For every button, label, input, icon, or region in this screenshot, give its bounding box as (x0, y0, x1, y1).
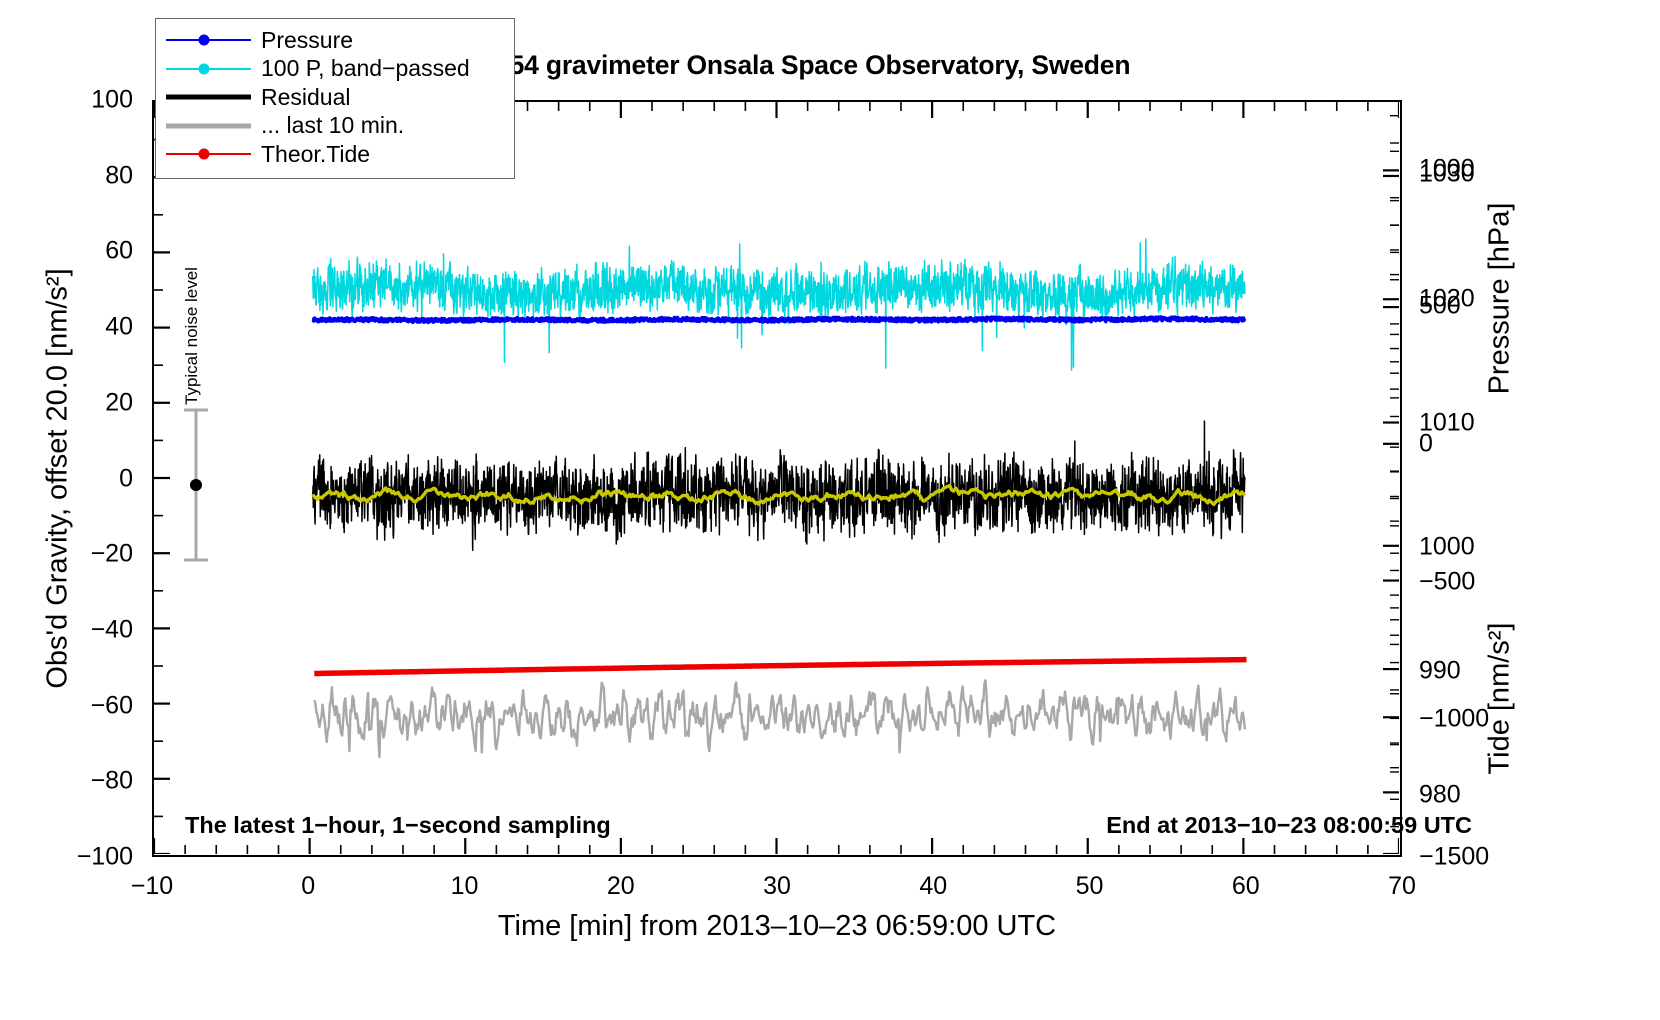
legend-swatch (166, 59, 251, 79)
legend-item-100-p-band-passed[interactable]: 100 P, band−passed (166, 55, 504, 84)
tide-tick-label: 500 (1419, 292, 1461, 321)
tide-tick-label: 1000 (1419, 154, 1475, 183)
trace-band-passed-pressure (313, 239, 1245, 370)
y-tick-label: −20 (91, 540, 133, 569)
chart-legend[interactable]: Pressure100 P, band−passedResidual... la… (155, 18, 515, 179)
y-tick-label: 0 (119, 464, 133, 493)
x-tick-label: 70 (1357, 872, 1447, 901)
y-axis-pressure-title: Pressure [hPa] (1484, 89, 1517, 509)
legend-swatch (166, 116, 251, 136)
x-axis-title: Time [min] from 2013–10–23 06:59:00 UTC (152, 910, 1402, 943)
y-tick-label: −60 (91, 691, 133, 720)
y-tick-label: −100 (77, 843, 133, 872)
pressure-tick-label: 990 (1419, 656, 1461, 685)
trace-last-10-min (314, 680, 1245, 757)
x-tick-label: 50 (1045, 872, 1135, 901)
legend-label: Theor.Tide (251, 141, 370, 168)
x-tick-label: 60 (1201, 872, 1291, 901)
plot-area (152, 100, 1402, 857)
legend-label: ... last 10 min. (251, 112, 404, 139)
noise-level-note: Typical noise level (182, 225, 202, 405)
legend-label: Pressure (251, 27, 353, 54)
y-tick-label: 40 (105, 313, 133, 342)
x-tick-label: 40 (888, 872, 978, 901)
end-time-note: End at 2013−10−23 08:00:59 UTC (1106, 812, 1472, 839)
legend-label: Residual (251, 84, 351, 111)
legend-swatch (166, 87, 251, 107)
y-tick-label: 20 (105, 388, 133, 417)
y-tick-label: 100 (91, 86, 133, 115)
x-tick-label: 10 (420, 872, 510, 901)
x-tick-label: 30 (732, 872, 822, 901)
tide-tick-label: −1500 (1419, 843, 1489, 872)
legend-item-pressure[interactable]: Pressure (166, 26, 504, 55)
legend-marker-dot (199, 149, 210, 160)
legend-item-residual[interactable]: Residual (166, 83, 504, 112)
y-tick-label: 80 (105, 161, 133, 190)
legend-item-theor-tide[interactable]: Theor.Tide (166, 140, 504, 169)
trace-residual (313, 421, 1245, 550)
chart-canvas: SCG_054 gravimeter Onsala Space Observat… (0, 0, 1660, 1020)
tide-tick-label: −1000 (1419, 705, 1489, 734)
x-tick-label: 0 (263, 872, 353, 901)
plot-traces (154, 102, 1399, 854)
y-axis-left-title: Obs'd Gravity, offset 20.0 [nm/s²] (42, 129, 75, 829)
tide-tick-label: 0 (1419, 430, 1433, 459)
y-tick-label: −80 (91, 767, 133, 796)
legend-marker-dot (199, 35, 210, 46)
legend-swatch (166, 30, 251, 50)
y-tick-label: −40 (91, 615, 133, 644)
x-tick-label: −10 (107, 872, 197, 901)
pressure-tick-label: 1000 (1419, 532, 1475, 561)
tide-tick-label: −500 (1419, 567, 1475, 596)
pressure-tick-label: 980 (1419, 780, 1461, 809)
sampling-note: The latest 1−hour, 1−second sampling (185, 812, 611, 839)
typical-noise-bar (176, 405, 216, 565)
legend-item-last-10-min[interactable]: ... last 10 min. (166, 112, 504, 141)
trace-theor-tide (314, 660, 1246, 674)
y-tick-label: 60 (105, 237, 133, 266)
legend-marker-dot (199, 63, 210, 74)
y-axis-tide-title: Tide [nm/s²] (1484, 529, 1517, 869)
legend-label: 100 P, band−passed (251, 55, 470, 82)
legend-swatch (166, 144, 251, 164)
trace-pressure (313, 317, 1245, 322)
x-tick-label: 20 (576, 872, 666, 901)
